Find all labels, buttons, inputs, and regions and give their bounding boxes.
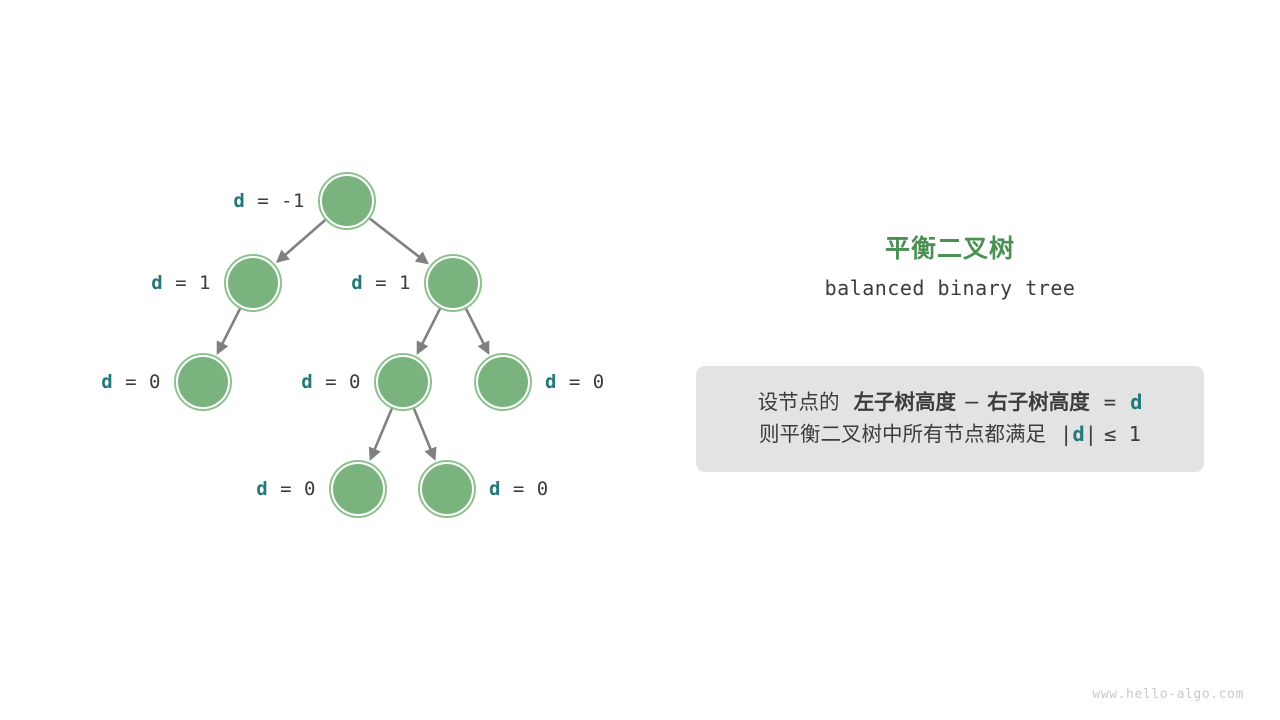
formula-prefix-2: 则平衡二叉树中所有节点都满足 bbox=[759, 422, 1046, 446]
tree-node[interactable] bbox=[478, 357, 528, 407]
node-balance-label: d = 0 bbox=[101, 371, 161, 393]
formula-symbol-d-2: d bbox=[1072, 422, 1084, 446]
balance-value: = 1 bbox=[363, 272, 411, 294]
formula-symbol-d-1: d bbox=[1130, 390, 1142, 414]
formula-left-subtree-height: 左子树高度 bbox=[854, 390, 957, 414]
balance-value: = 0 bbox=[113, 371, 161, 393]
balance-symbol-d: d bbox=[101, 371, 113, 393]
balance-symbol-d: d bbox=[151, 272, 163, 294]
tree-nodes bbox=[175, 173, 531, 517]
balance-value: = -1 bbox=[245, 190, 305, 212]
tree-edge bbox=[418, 307, 441, 352]
tree-edge bbox=[279, 219, 327, 261]
balance-symbol-d: d bbox=[489, 478, 501, 500]
tree-edge bbox=[371, 407, 392, 458]
formula-relation: ≤ 1 bbox=[1104, 422, 1141, 446]
panel-subtitle: balanced binary tree bbox=[696, 276, 1204, 300]
node-balance-label: d = 1 bbox=[351, 272, 411, 294]
info-panel: 平衡二叉树 balanced binary tree 设节点的左子树高度−右子树… bbox=[696, 0, 1204, 720]
tree-edges bbox=[218, 218, 487, 458]
tree-node[interactable] bbox=[178, 357, 228, 407]
node-balance-label: d = 0 bbox=[301, 371, 361, 393]
tree-diagram-area: d = -1d = 1d = 1d = 0d = 0d = 0d = 0d = … bbox=[0, 0, 660, 720]
balance-value: = 0 bbox=[501, 478, 549, 500]
balance-symbol-d: d bbox=[301, 371, 313, 393]
node-balance-label: d = -1 bbox=[233, 190, 305, 212]
balance-value: = 1 bbox=[163, 272, 211, 294]
formula-minus-sign: − bbox=[963, 390, 980, 414]
tree-node[interactable] bbox=[428, 258, 478, 308]
tree-node[interactable] bbox=[228, 258, 278, 308]
node-balance-label: d = 0 bbox=[256, 478, 316, 500]
tree-edge bbox=[413, 407, 434, 458]
tree-node[interactable] bbox=[378, 357, 428, 407]
formula-right-subtree-height: 右子树高度 bbox=[987, 390, 1090, 414]
formula-prefix-1: 设节点的 bbox=[758, 390, 840, 414]
balance-value: = 0 bbox=[268, 478, 316, 500]
node-balance-label: d = 1 bbox=[151, 272, 211, 294]
balance-value: = 0 bbox=[557, 371, 605, 393]
formula-line-2: 则平衡二叉树中所有节点都满足|d|≤ 1 bbox=[759, 419, 1141, 451]
node-balance-label: d = 0 bbox=[545, 371, 605, 393]
formula-callout-box: 设节点的左子树高度−右子树高度=d 则平衡二叉树中所有节点都满足|d|≤ 1 bbox=[696, 366, 1204, 472]
tree-edge bbox=[465, 307, 488, 352]
balance-symbol-d: d bbox=[545, 371, 557, 393]
formula-abs-close: | bbox=[1085, 422, 1097, 446]
tree-edge bbox=[218, 307, 241, 352]
site-watermark: www.hello-algo.com bbox=[1092, 687, 1244, 702]
panel-title: 平衡二叉树 bbox=[696, 229, 1204, 265]
formula-equals-sign: = bbox=[1104, 390, 1116, 414]
balance-symbol-d: d bbox=[233, 190, 245, 212]
tree-node[interactable] bbox=[422, 464, 472, 514]
tree-edge bbox=[368, 218, 426, 263]
tree-node[interactable] bbox=[333, 464, 383, 514]
formula-abs-open: | bbox=[1060, 422, 1072, 446]
node-balance-label: d = 0 bbox=[489, 478, 549, 500]
tree-node[interactable] bbox=[322, 176, 372, 226]
balance-value: = 0 bbox=[313, 371, 361, 393]
tree-graphics bbox=[0, 0, 660, 720]
balance-symbol-d: d bbox=[256, 478, 268, 500]
balance-symbol-d: d bbox=[351, 272, 363, 294]
formula-line-1: 设节点的左子树高度−右子树高度=d bbox=[758, 387, 1143, 419]
